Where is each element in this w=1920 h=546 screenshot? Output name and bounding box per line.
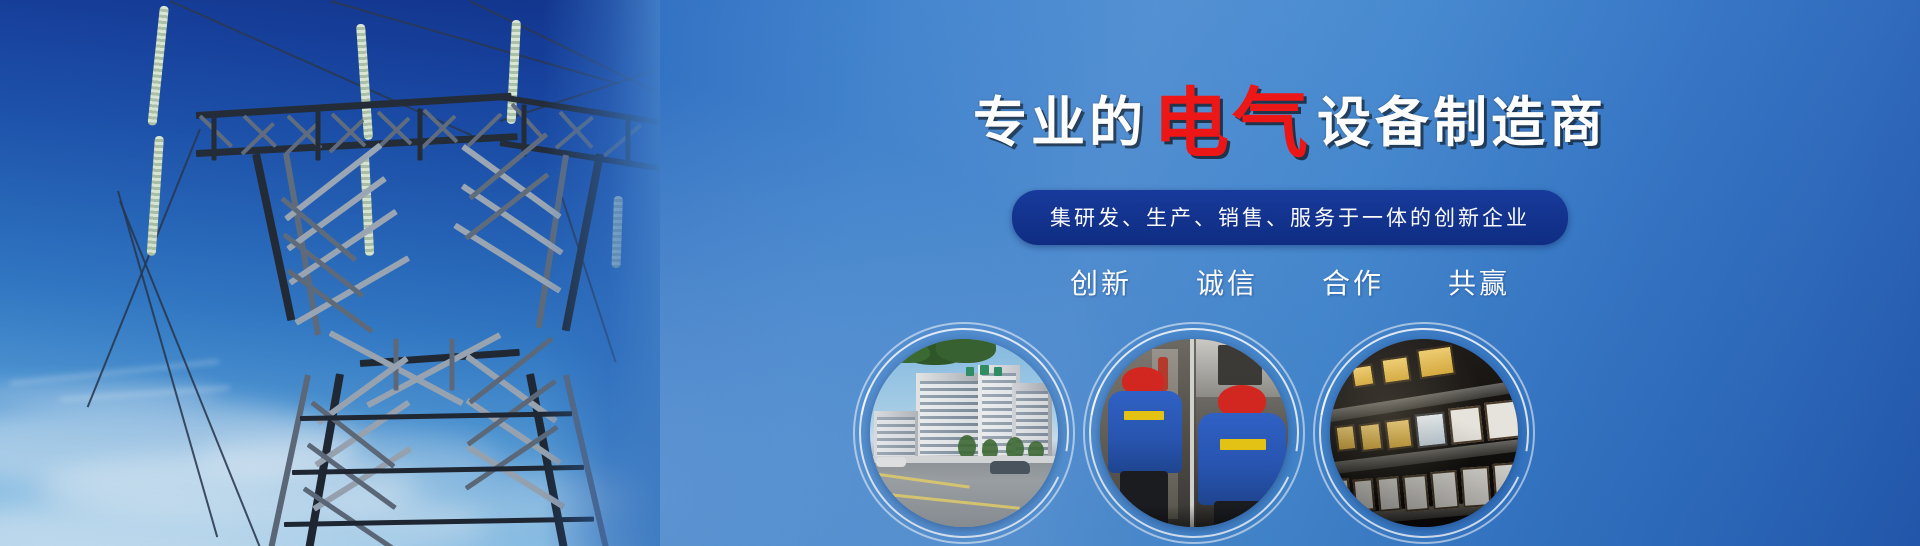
subtitle-pill: 集研发、生产、销售、服务于一体的创新企业 [1012, 190, 1568, 245]
photo-circle-row [660, 322, 1920, 546]
pylon-structure [0, 0, 660, 546]
office-building-image [870, 339, 1058, 527]
keyword-cooperation: 合作 [1322, 262, 1384, 302]
banner-content: 专业的电气设备制造商 集研发、生产、销售、服务于一体的创新企业 创新诚信合作共赢 [660, 0, 1920, 546]
certificate-wall-photo [1313, 322, 1535, 544]
workers-installation-photo [1083, 322, 1305, 544]
banner-headline: 专业的电气设备制造商 [660, 78, 1920, 154]
headline-part-2-highlight: 电气 [1153, 87, 1311, 163]
keyword-integrity: 诚信 [1196, 262, 1258, 302]
insulator-string [147, 6, 168, 126]
office-building-photo [853, 322, 1075, 544]
workers-installation-image [1100, 339, 1288, 527]
keyword-innovation: 创新 [1070, 262, 1132, 302]
insulator-string [147, 136, 164, 256]
transmission-tower-photo [0, 0, 660, 546]
insulator-string [611, 196, 623, 268]
headline-part-3: 设备制造商 [1317, 96, 1607, 150]
headline-part-1: 专业的 [973, 96, 1147, 150]
subtitle-pill-wrapper: 集研发、生产、销售、服务于一体的创新企业 [660, 190, 1920, 245]
promotional-banner: 专业的电气设备制造商 集研发、生产、销售、服务于一体的创新企业 创新诚信合作共赢 [0, 0, 1920, 546]
insulator-string [360, 156, 374, 256]
keyword-row: 创新诚信合作共赢 [660, 262, 1920, 302]
keyword-winwin: 共赢 [1448, 262, 1510, 302]
certificate-wall-image [1330, 339, 1518, 527]
